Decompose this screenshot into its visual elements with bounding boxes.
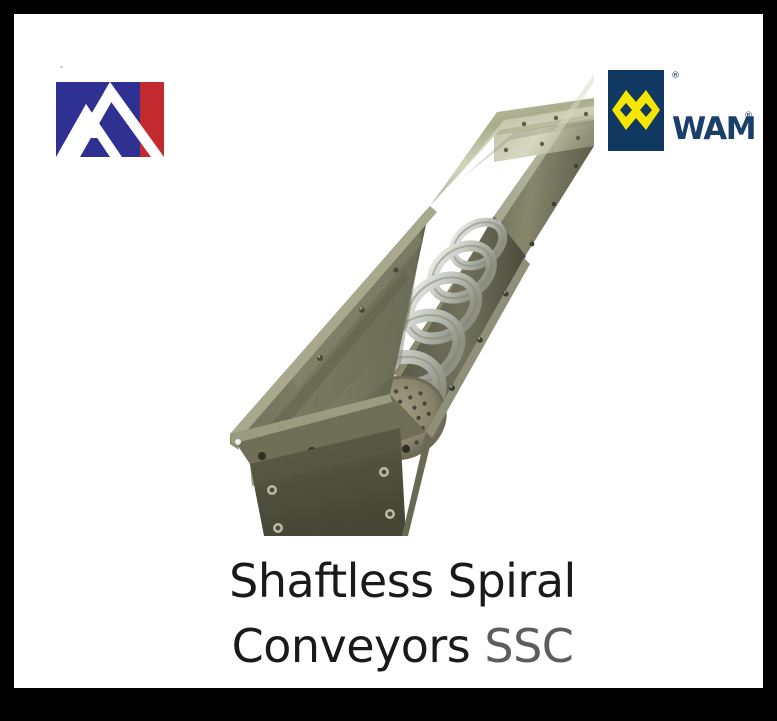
product-photo-shaftless-spiral-conveyor (194, 58, 594, 536)
slide-page: ® WAM ® (0, 0, 777, 721)
page-title-line-1: Shaftless Spiral (28, 549, 777, 614)
wam-registered-mark-top: ® (671, 73, 677, 79)
wam-logo: ® WAM ® (608, 70, 758, 160)
wam-logo-mark (608, 70, 664, 151)
page-title-product: Conveyors (232, 619, 485, 673)
page-title-line-2: Conveyors SSC (28, 614, 777, 679)
page-title-model-code: SSC (484, 619, 573, 673)
image-artifact-speck (60, 66, 63, 68)
slide-inner-frame: ® WAM ® (14, 14, 763, 688)
page-title: Shaftless Spiral Conveyors SSC (28, 549, 777, 679)
wam-wordmark: WAM (672, 114, 755, 145)
double-chevron-logo (56, 82, 164, 157)
wam-registered-mark: ® (744, 112, 753, 121)
